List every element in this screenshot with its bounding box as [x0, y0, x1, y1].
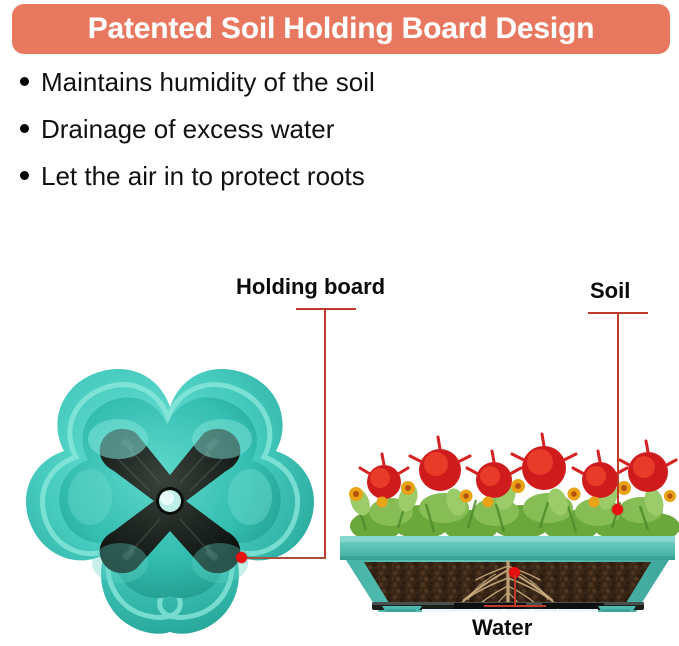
- soil-marker-dot: [612, 504, 623, 515]
- water-leader-vertical: [514, 575, 516, 607]
- soil-leader-vertical: [617, 312, 619, 510]
- feature-text: Drainage of excess water: [41, 115, 334, 144]
- holding-board-leader-horizontal: [243, 557, 326, 559]
- page-title: Patented Soil Holding Board Design: [88, 12, 595, 46]
- callout-label-holding-board: Holding board: [236, 274, 385, 300]
- holding-board-leader-vertical: [324, 308, 326, 558]
- water-leader-cap: [484, 605, 546, 607]
- callout-label-soil: Soil: [590, 278, 630, 304]
- list-item: Drainage of excess water: [20, 115, 640, 149]
- bullet-dot-icon: [20, 77, 29, 86]
- top-view-planter-image: [10, 355, 330, 645]
- product-diagram: Holding board Soil Water: [0, 230, 679, 646]
- bullet-dot-icon: [20, 171, 29, 180]
- cross-section-planter-image: [336, 330, 679, 612]
- callout-label-water: Water: [472, 615, 532, 641]
- list-item: Let the air in to protect roots: [20, 162, 640, 196]
- list-item: Maintains humidity of the soil: [20, 68, 640, 102]
- holding-board-leader-cap: [296, 308, 356, 310]
- bullet-dot-icon: [20, 124, 29, 133]
- feature-text: Maintains humidity of the soil: [41, 68, 375, 97]
- feature-text: Let the air in to protect roots: [41, 162, 365, 191]
- feature-list: Maintains humidity of the soil Drainage …: [20, 68, 640, 209]
- plants: [346, 434, 679, 542]
- header-banner: Patented Soil Holding Board Design: [12, 4, 670, 54]
- holding-board-marker-dot: [236, 552, 247, 563]
